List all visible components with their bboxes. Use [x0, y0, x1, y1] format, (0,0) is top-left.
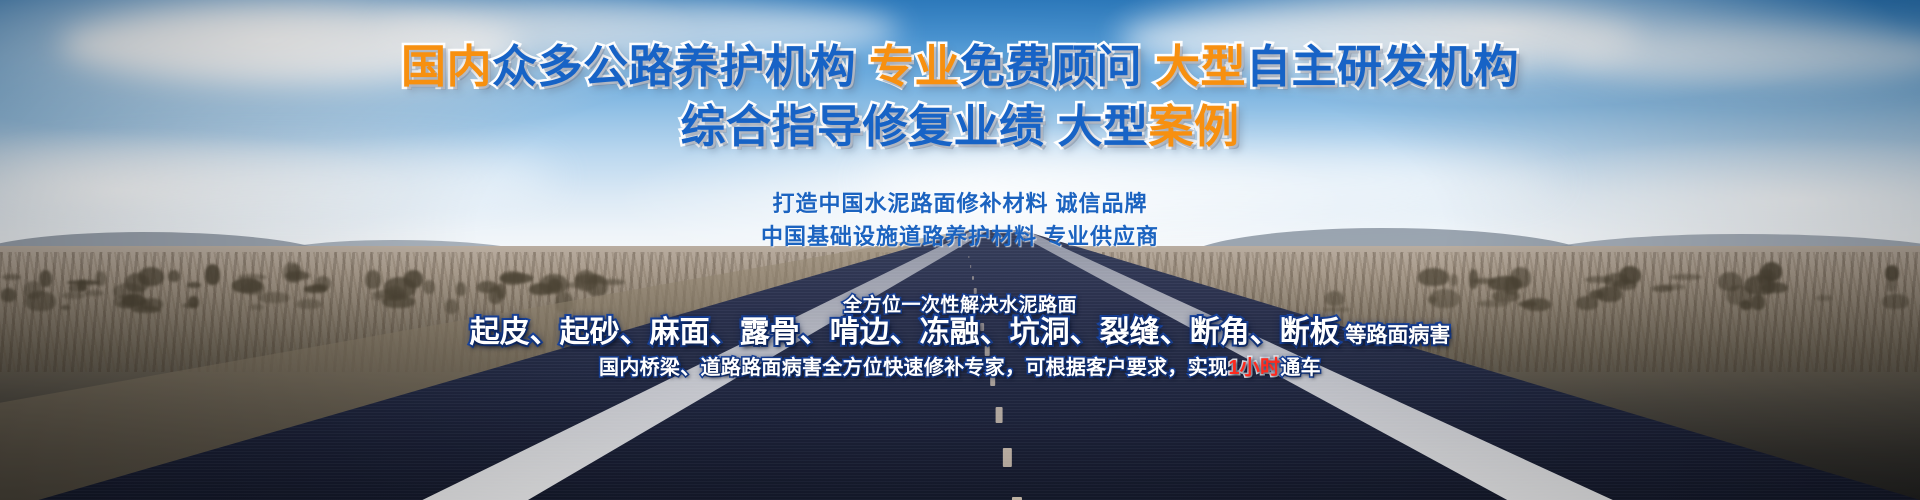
- bush-shape: [553, 282, 563, 289]
- text-run: 1小时: [1228, 357, 1280, 379]
- bush-shape: [39, 270, 52, 287]
- bush-shape: [114, 295, 138, 307]
- bush-shape: [496, 283, 506, 299]
- bush-shape: [62, 292, 85, 299]
- bush-shape: [168, 270, 180, 283]
- bush-shape: [1576, 296, 1598, 309]
- text-run: [1142, 41, 1155, 92]
- bush-shape: [258, 292, 290, 303]
- text-run: 案例: [1149, 101, 1240, 152]
- bush-shape: [1885, 265, 1899, 281]
- bush-shape: [1882, 294, 1908, 309]
- bush-shape: [1597, 286, 1622, 302]
- text-run: 免费顾问: [960, 41, 1142, 92]
- bush-shape: [1325, 291, 1345, 306]
- tagline-line-2: 中国基础设施道路养护材料 专业供应商: [761, 226, 1159, 248]
- bush-shape: [1761, 282, 1788, 293]
- bush-shape: [1504, 276, 1519, 295]
- bush-shape: [1619, 266, 1640, 285]
- road-dash: [972, 276, 974, 280]
- bush-shape: [78, 280, 87, 291]
- bush-shape: [250, 304, 264, 311]
- text-run: 国内桥梁、道路路面病害全方位快速修补专家，可根据客户要求，实现: [599, 357, 1228, 379]
- bush-shape: [1478, 300, 1509, 307]
- bush-shape: [1418, 268, 1448, 286]
- bush-shape: [1718, 272, 1742, 291]
- bush-shape: [1663, 284, 1685, 290]
- text-run: 国内: [401, 41, 492, 92]
- bush-shape: [500, 273, 533, 283]
- text-run: 通车: [1280, 357, 1321, 379]
- bush-shape: [1323, 307, 1350, 312]
- bush-shape: [125, 273, 149, 292]
- bush-shape: [365, 270, 381, 290]
- cloud-shape: [0, 150, 560, 206]
- text-run: 专业: [869, 41, 960, 92]
- text-run: [1044, 101, 1057, 152]
- bush-shape: [1428, 296, 1438, 303]
- bush-shape: [84, 290, 103, 297]
- bush-shape: [1469, 269, 1478, 289]
- bush-shape: [61, 305, 71, 310]
- bush-shape: [288, 264, 303, 282]
- bush-shape: [1450, 274, 1458, 286]
- promo-banner: 国内众多公路养护机构 专业免费顾问 大型自主研发机构 综合指导修复业绩 大型案例…: [0, 0, 1920, 500]
- bush-shape: [586, 275, 608, 296]
- bush-shape: [25, 291, 56, 311]
- bush-shape: [566, 282, 586, 288]
- text-run: 等路面病害: [1340, 324, 1451, 347]
- bush-shape: [296, 299, 321, 309]
- bottom-promise-line: 国内桥梁、道路路面病害全方位快速修补专家，可根据客户要求，实现1小时通车: [599, 358, 1321, 378]
- bottom-headline: 全方位一次性解决水泥路面: [843, 296, 1077, 315]
- road-dash: [996, 407, 1003, 423]
- headline-line-1: 国内众多公路养护机构 专业免费顾问 大型自主研发机构: [401, 44, 1519, 89]
- bush-shape: [237, 274, 267, 281]
- bush-shape: [140, 298, 164, 310]
- bush-shape: [1816, 295, 1832, 300]
- bush-shape: [2, 274, 21, 281]
- text-run: 大型: [1058, 101, 1149, 152]
- text-run: 大型: [1155, 41, 1246, 92]
- road-dash: [970, 265, 972, 268]
- bush-shape: [445, 299, 458, 314]
- bush-shape: [205, 264, 220, 285]
- headline-line-2: 综合指导修复业绩 大型案例: [680, 104, 1239, 149]
- bush-shape: [456, 282, 466, 296]
- text-run: 起皮、起砂、麻面、露骨、啃边、冻融、坑洞、裂缝、断角、断板: [470, 316, 1340, 349]
- text-run: [856, 41, 869, 92]
- bush-shape: [1751, 294, 1765, 310]
- bottom-defect-list: 起皮、起砂、麻面、露骨、啃边、冻融、坑洞、裂缝、断角、断板 等路面病害: [470, 318, 1451, 348]
- bush-shape: [1670, 274, 1702, 280]
- text-run: 众多公路养护机构: [492, 41, 856, 92]
- bush-shape: [313, 284, 327, 290]
- bush-shape: [188, 296, 198, 308]
- bush-shape: [1740, 300, 1752, 310]
- road-dash: [974, 288, 977, 293]
- tagline-line-1: 打造中国水泥路面修补材料 诚信品牌: [772, 193, 1147, 215]
- bush-shape: [423, 280, 435, 295]
- text-run: 自主研发机构: [1246, 41, 1519, 92]
- bush-shape: [187, 282, 201, 288]
- bush-shape: [1518, 301, 1537, 307]
- road-dash: [1003, 448, 1011, 467]
- bush-shape: [1, 288, 15, 301]
- bush-shape: [384, 277, 416, 297]
- text-run: 综合指导修复业绩: [680, 101, 1044, 152]
